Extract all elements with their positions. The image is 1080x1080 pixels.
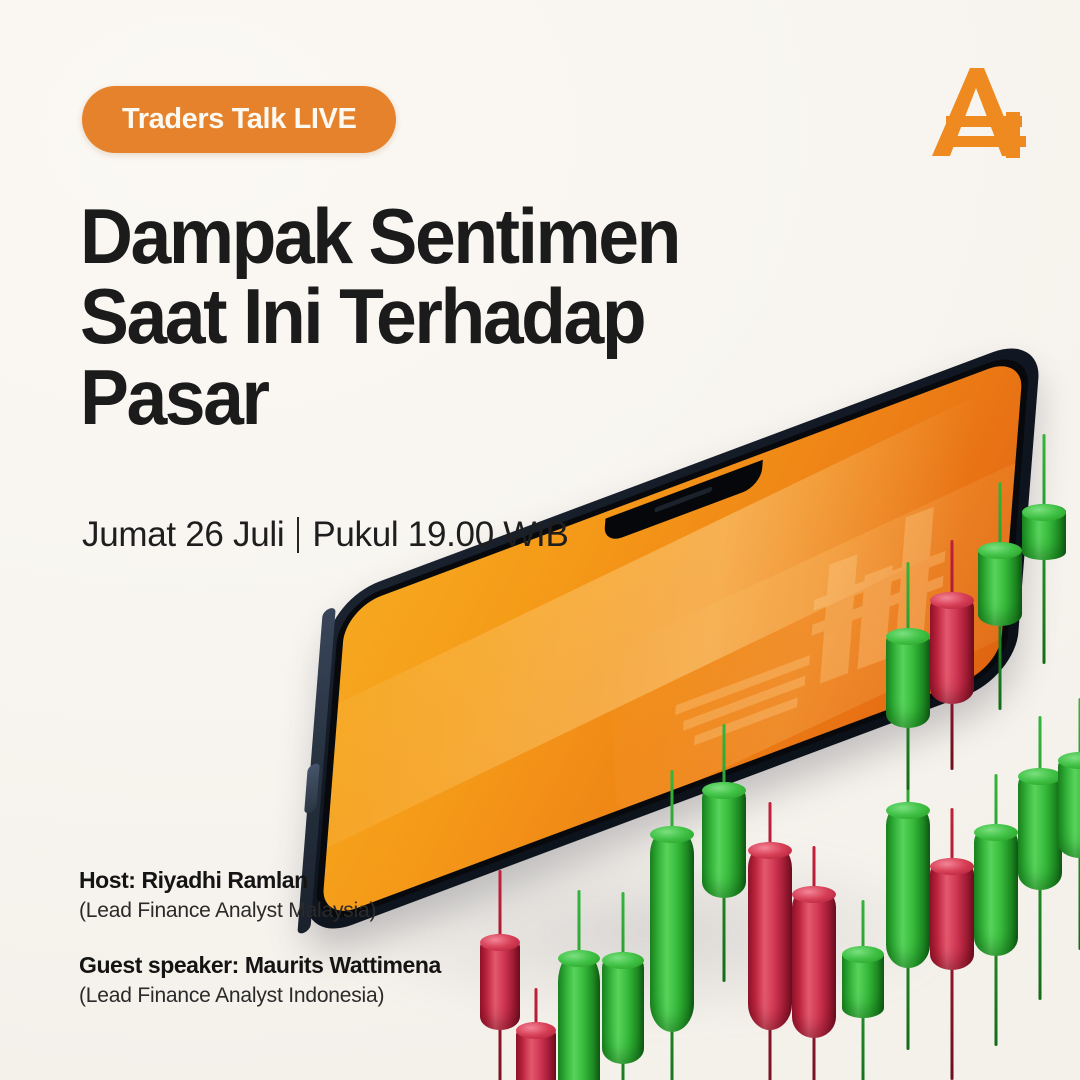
candle-body <box>1022 504 1066 560</box>
candlestick-bearish <box>930 808 974 1080</box>
candlestick-bullish <box>886 744 930 1050</box>
candlestick-series <box>330 600 1080 1080</box>
candle-top-cap <box>974 824 1018 841</box>
live-badge[interactable]: Traders Talk LIVE <box>82 86 396 153</box>
candle-wick <box>622 892 625 1080</box>
candle-body <box>516 1022 556 1080</box>
candle-wick <box>723 724 726 982</box>
candle-wick <box>813 846 816 1080</box>
candlestick-bullish <box>842 900 884 1080</box>
speaker-credits: Host: Riyadhi Ramlan (Lead Finance Analy… <box>79 866 441 1036</box>
screen-background-chart-icon <box>655 462 982 772</box>
candlestick-bearish <box>516 988 556 1080</box>
candlestick-bearish <box>930 540 974 770</box>
candle-wick <box>499 870 502 1080</box>
device-notch <box>603 460 762 545</box>
candle-wick <box>951 808 954 1080</box>
candle-top-cap <box>480 934 520 951</box>
candlestick-bullish <box>978 482 1022 710</box>
headline-line-3: Pasar <box>80 357 776 437</box>
candlestick-bullish <box>1018 716 1062 1000</box>
page-title: Dampak Sentimen Saat Ini Terhadap Pasar <box>80 196 776 437</box>
screen-highlight-band <box>610 455 1024 818</box>
letter-a-monogram-icon <box>928 62 1032 162</box>
candle-top-cap <box>748 842 792 859</box>
datetime-separator <box>297 517 299 553</box>
candle-body <box>842 946 884 1018</box>
candlestick-bullish <box>974 774 1018 1046</box>
candle-top-cap <box>842 946 884 963</box>
candle-body <box>886 628 930 728</box>
candlestick-bullish <box>702 724 746 982</box>
candle-wick <box>999 482 1002 710</box>
candle-body <box>702 782 746 898</box>
host-name: Host: Riyadhi Ramlan <box>79 866 441 895</box>
candle-wick <box>951 540 954 770</box>
candlestick-bullish <box>1022 434 1066 664</box>
candle-wick <box>1043 434 1046 664</box>
candle-wick <box>862 900 865 1080</box>
candle-body <box>558 950 600 1080</box>
candle-body <box>480 934 520 1030</box>
device-speaker <box>654 486 712 513</box>
candle-top-cap <box>702 782 746 799</box>
candlestick-bullish <box>1058 698 1080 950</box>
candle-body <box>792 886 836 1038</box>
candle-wick <box>907 744 910 1050</box>
guest-role: (Lead Finance Analyst Indonesia) <box>79 982 441 1010</box>
live-badge-label: Traders Talk LIVE <box>122 103 356 136</box>
host-role: (Lead Finance Analyst Malaysia) <box>79 897 441 925</box>
candle-wick <box>995 774 998 1046</box>
candlestick-bullish <box>650 770 694 1080</box>
candle-wick <box>769 802 772 1080</box>
candle-top-cap <box>602 952 644 969</box>
candle-body <box>1018 768 1062 890</box>
candlestick-bearish <box>748 802 792 1080</box>
candle-top-cap <box>1058 752 1080 769</box>
candle-top-cap <box>558 950 600 967</box>
candlestick-bearish <box>480 870 520 1080</box>
candle-wick <box>578 890 581 1080</box>
candle-body <box>748 842 792 1030</box>
candlestick-bullish <box>602 892 644 1080</box>
candle-body <box>602 952 644 1064</box>
device-side-button <box>304 762 320 815</box>
candle-body <box>886 802 930 968</box>
candlestick-bullish <box>886 562 930 790</box>
candle-wick <box>671 770 674 1080</box>
candle-top-cap <box>978 542 1022 559</box>
candle-body <box>1058 752 1080 858</box>
device-screen <box>321 356 1024 922</box>
candle-top-cap <box>792 886 836 903</box>
candle-top-cap <box>650 826 694 843</box>
candle-top-cap <box>516 1022 556 1039</box>
candle-wick <box>535 988 538 1080</box>
candle-wick <box>907 562 910 790</box>
headline-line-1: Dampak Sentimen <box>80 196 776 276</box>
candle-wick <box>1039 716 1042 1000</box>
headline-line-2: Saat Ini Terhadap <box>80 276 776 356</box>
candle-body <box>650 826 694 1032</box>
candle-body <box>978 542 1022 626</box>
credit-guest: Guest speaker: Maurits Wattimena (Lead F… <box>79 951 441 1010</box>
candle-top-cap <box>886 802 930 819</box>
candle-top-cap <box>1022 504 1066 521</box>
event-datetime: Jumat 26 Juli Pukul 19.00 WIB <box>82 515 569 555</box>
candlestick-bullish <box>558 890 600 1080</box>
candle-body <box>974 824 1018 956</box>
guest-name: Guest speaker: Maurits Wattimena <box>79 951 441 980</box>
event-time: Pukul 19.00 WIB <box>312 515 568 555</box>
candle-top-cap <box>930 592 974 609</box>
candle-top-cap <box>1018 768 1062 785</box>
candle-top-cap <box>886 628 930 645</box>
candlestick-phone-illustration <box>330 600 1080 1080</box>
event-date: Jumat 26 Juli <box>82 515 284 555</box>
credit-host: Host: Riyadhi Ramlan (Lead Finance Analy… <box>79 866 441 925</box>
candle-body <box>930 858 974 970</box>
poster-canvas: Traders Talk LIVE Dampak Sentimen Saat I… <box>0 0 1080 1080</box>
candle-body <box>930 592 974 704</box>
candle-top-cap <box>930 858 974 875</box>
candlestick-bearish <box>792 846 836 1080</box>
